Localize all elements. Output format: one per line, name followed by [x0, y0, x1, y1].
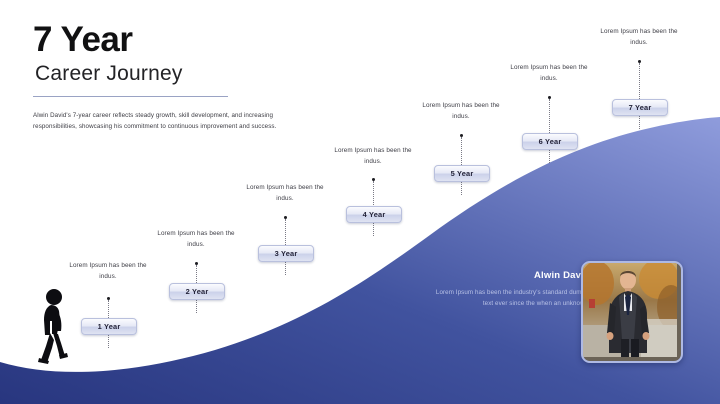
- page-title: 7 Year: [33, 22, 333, 57]
- header-divider: [33, 96, 228, 97]
- node-connector-line-lower: [108, 334, 109, 348]
- node-caption: Lorem Ipsum has been the indus.: [327, 145, 419, 167]
- page-subtitle: Career Journey: [35, 63, 333, 84]
- year-badge-4[interactable]: 4 Year: [346, 206, 402, 223]
- walking-person-icon: [38, 288, 68, 369]
- node-connector-line: [461, 137, 462, 167]
- year-badge-7[interactable]: 7 Year: [612, 99, 668, 116]
- profile-name: Alwin David: [430, 270, 590, 281]
- year-badge-label: 2 Year: [186, 287, 209, 296]
- node-caption: Lorem Ipsum has been the indus.: [593, 26, 685, 48]
- node-connector-line-lower: [639, 115, 640, 129]
- year-badge-label: 6 Year: [539, 137, 562, 146]
- node-caption: Lorem Ipsum has been the indus.: [503, 62, 595, 84]
- year-badge-3[interactable]: 3 Year: [258, 245, 314, 262]
- year-badge-label: 3 Year: [275, 249, 298, 258]
- node-connector-line-lower: [461, 181, 462, 195]
- year-badge-6[interactable]: 6 Year: [522, 133, 578, 150]
- year-badge-1[interactable]: 1 Year: [81, 318, 137, 335]
- year-badge-label: 4 Year: [363, 210, 386, 219]
- year-badge-label: 5 Year: [451, 169, 474, 178]
- year-badge-label: 7 Year: [629, 103, 652, 112]
- node-connector-line-lower: [285, 261, 286, 275]
- year-badge-2[interactable]: 2 Year: [169, 283, 225, 300]
- node-caption: Lorem Ipsum has been the indus.: [239, 182, 331, 204]
- intro-paragraph: Alwin David's 7-year career reflects ste…: [33, 110, 285, 133]
- career-journey-slide: 7 Year Career Journey Alwin David's 7-ye…: [0, 0, 720, 404]
- node-connector-line: [373, 181, 374, 209]
- profile-description: Lorem Ipsum has been the industry's stan…: [430, 288, 590, 310]
- node-caption: Lorem Ipsum has been the indus.: [415, 100, 507, 122]
- node-connector-line: [285, 219, 286, 247]
- node-caption: Lorem Ipsum has been the indus.: [62, 260, 154, 282]
- node-connector-line: [639, 63, 640, 101]
- profile-block: Alwin David Lorem Ipsum has been the ind…: [430, 270, 590, 310]
- node-connector-line-lower: [373, 222, 374, 236]
- node-caption: Lorem Ipsum has been the indus.: [150, 228, 242, 250]
- year-badge-label: 1 Year: [98, 322, 121, 331]
- year-badge-5[interactable]: 5 Year: [434, 165, 490, 182]
- header-block: 7 Year Career Journey Alwin David's 7-ye…: [33, 22, 333, 133]
- node-connector-line-lower: [549, 149, 550, 163]
- profile-photo: [581, 261, 683, 363]
- node-connector-line-lower: [196, 299, 197, 313]
- node-connector-line: [549, 99, 550, 135]
